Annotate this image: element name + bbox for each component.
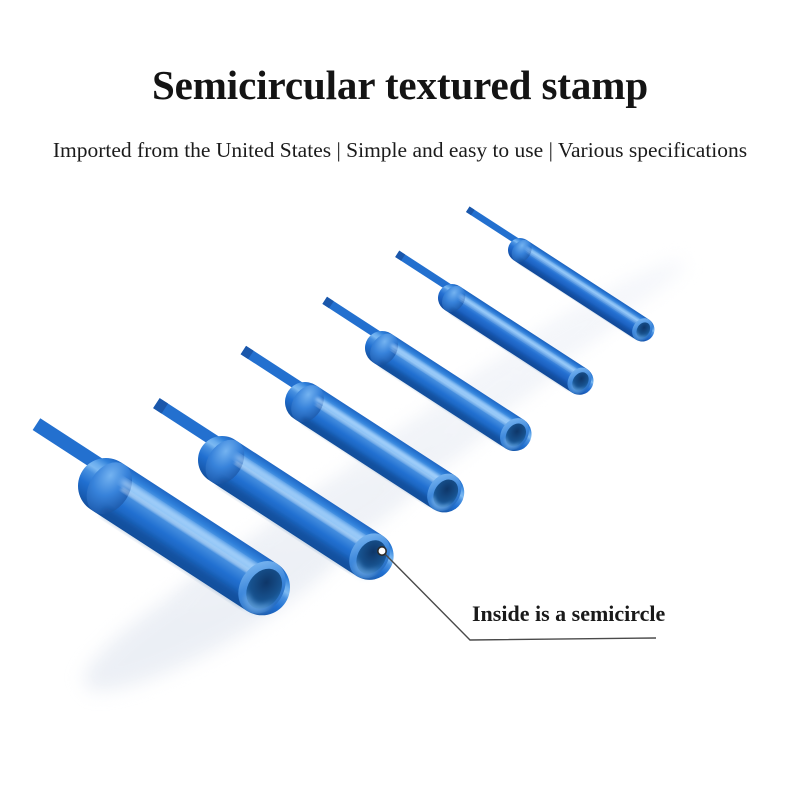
product-image-canvas: Semicircular textured stamp Imported fro… [0,0,800,800]
stamp-largest [14,412,301,626]
product-photo [0,180,800,740]
spur-connector [466,207,520,245]
callout-label: Inside is a semicircle [472,601,665,627]
spur-connector [395,251,453,292]
page-title: Semicircular textured stamp [0,62,800,108]
product-illustration [0,180,800,740]
page-subtitle: Imported from the United States | Simple… [0,136,800,164]
surface-shadows [68,250,692,715]
